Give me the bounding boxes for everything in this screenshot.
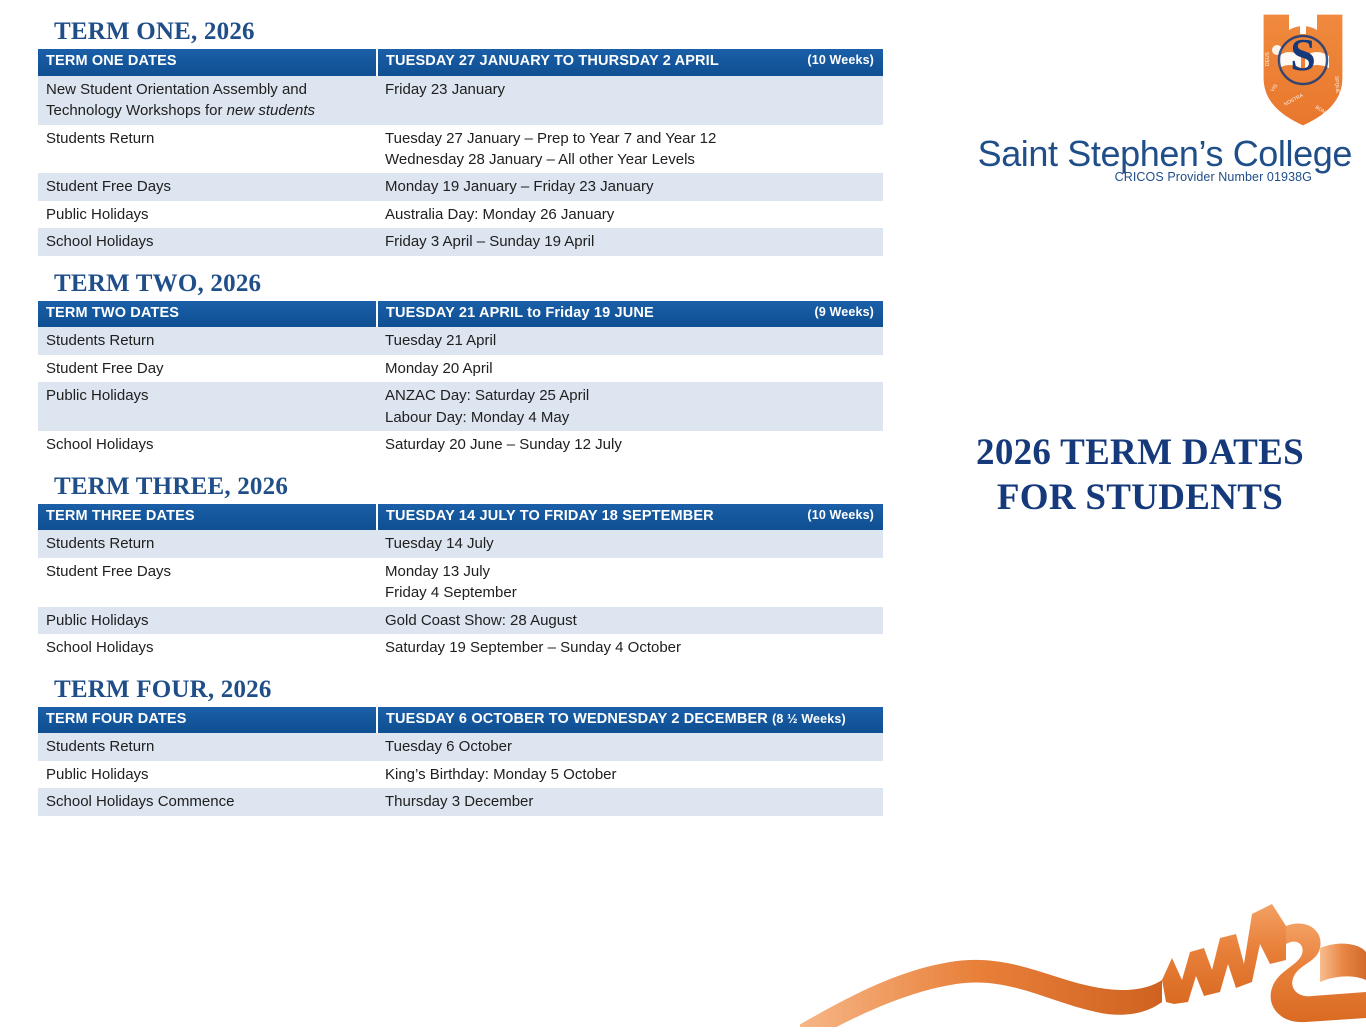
term-block: TERM ONE, 2026TERM ONE DATESTUESDAY 27 J… [38, 18, 890, 256]
table-row: Public HolidaysANZAC Day: Saturday 25 Ap… [38, 382, 883, 431]
row-value-line: Friday 3 April – Sunday 19 April [385, 231, 875, 252]
row-value: Friday 23 January [377, 76, 883, 125]
term-weeks-count: (10 Weeks) [807, 508, 874, 523]
term-heading: TERM TWO, 2026 [54, 270, 890, 298]
row-value-line: Australia Day: Monday 26 January [385, 204, 875, 225]
row-label: School Holidays [38, 431, 377, 458]
table-row: Student Free DaysMonday 19 January – Fri… [38, 173, 883, 200]
term-date-range: TUESDAY 14 JULY TO FRIDAY 18 SEPTEMBER [386, 508, 714, 524]
svg-text:SPQUE: SPQUE [1333, 76, 1340, 95]
table-row: Public HolidaysKing’s Birthday: Monday 5… [38, 761, 883, 788]
table-row: School HolidaysSaturday 19 September – S… [38, 634, 883, 661]
row-value: Monday 20 April [377, 355, 883, 382]
term-date-range: TUESDAY 6 OCTOBER TO WEDNESDAY 2 DECEMBE… [386, 711, 768, 727]
branding-panel: S DEUS VIS NOSTRA BONISSIMA SPQUE Saint … [900, 0, 1366, 1023]
page-title: 2026 TERM DATES FOR STUDENTS [920, 430, 1360, 520]
table-header-right: TUESDAY 14 JULY TO FRIDAY 18 SEPTEMBER(1… [377, 504, 883, 531]
page-title-line-2: FOR STUDENTS [920, 475, 1360, 520]
row-value-line: Thursday 3 December [385, 791, 875, 812]
row-value: Thursday 3 December [377, 788, 883, 815]
row-label: School Holidays [38, 228, 377, 255]
table-row: Students ReturnTuesday 27 January – Prep… [38, 125, 883, 174]
row-value: Tuesday 21 April [377, 327, 883, 354]
term-heading: TERM ONE, 2026 [54, 18, 890, 46]
row-value-line: Monday 20 April [385, 358, 875, 379]
term-table: TERM THREE DATESTUESDAY 14 JULY TO FRIDA… [38, 504, 883, 662]
row-value: Gold Coast Show: 28 August [377, 607, 883, 634]
row-value-line: Gold Coast Show: 28 August [385, 610, 875, 631]
term-table: TERM FOUR DATESTUESDAY 6 OCTOBER TO WEDN… [38, 707, 883, 816]
table-header-row: TERM FOUR DATESTUESDAY 6 OCTOBER TO WEDN… [38, 707, 883, 734]
svg-text:DEUS: DEUS [1265, 51, 1271, 66]
table-header-right: TUESDAY 27 JANUARY TO THURSDAY 2 APRIL(1… [377, 49, 883, 76]
table-row: School Holidays CommenceThursday 3 Decem… [38, 788, 883, 815]
term-block: TERM TWO, 2026TERM TWO DATESTUESDAY 21 A… [38, 270, 890, 459]
row-value-line: Wednesday 28 January – All other Year Le… [385, 149, 875, 170]
row-value-line: Monday 13 July [385, 561, 875, 582]
term-block: TERM THREE, 2026TERM THREE DATESTUESDAY … [38, 473, 890, 662]
row-value: Tuesday 27 January – Prep to Year 7 and … [377, 125, 883, 174]
row-label: Students Return [38, 327, 377, 354]
table-row: Students ReturnTuesday 14 July [38, 530, 883, 557]
table-row: Students ReturnTuesday 21 April [38, 327, 883, 354]
row-label: School Holidays [38, 634, 377, 661]
term-table: TERM TWO DATESTUESDAY 21 APRIL to Friday… [38, 301, 883, 459]
table-row: Student Free DayMonday 20 April [38, 355, 883, 382]
term-date-range: TUESDAY 27 JANUARY TO THURSDAY 2 APRIL [386, 53, 719, 69]
row-value-line: Saturday 20 June – Sunday 12 July [385, 434, 875, 455]
table-header-left: TERM ONE DATES [38, 49, 377, 76]
term-heading: TERM FOUR, 2026 [54, 676, 890, 704]
row-label: Public Holidays [38, 201, 377, 228]
table-row: School HolidaysSaturday 20 June – Sunday… [38, 431, 883, 458]
row-value-line: Monday 19 January – Friday 23 January [385, 176, 875, 197]
row-label: Students Return [38, 530, 377, 557]
row-label: School Holidays Commence [38, 788, 377, 815]
saint-stephens-crest-icon: S DEUS VIS NOSTRA BONISSIMA SPQUE [1255, 6, 1351, 130]
term-block: TERM FOUR, 2026TERM FOUR DATESTUESDAY 6 … [38, 676, 890, 816]
row-value: Tuesday 6 October [377, 733, 883, 760]
row-label: Student Free Days [38, 558, 377, 607]
row-value: Saturday 19 September – Sunday 4 October [377, 634, 883, 661]
table-row: Student Free DaysMonday 13 JulyFriday 4 … [38, 558, 883, 607]
table-header-row: TERM TWO DATESTUESDAY 21 APRIL to Friday… [38, 301, 883, 328]
table-row: Public HolidaysAustralia Day: Monday 26 … [38, 201, 883, 228]
row-value-line: Tuesday 14 July [385, 533, 875, 554]
row-value: Friday 3 April – Sunday 19 April [377, 228, 883, 255]
row-value-line: Friday 23 January [385, 79, 875, 100]
row-value: ANZAC Day: Saturday 25 AprilLabour Day: … [377, 382, 883, 431]
row-value: Monday 13 JulyFriday 4 September [377, 558, 883, 607]
table-header-left: TERM TWO DATES [38, 301, 377, 328]
orange-ribbon-decoration [800, 852, 1366, 1027]
row-label: Students Return [38, 733, 377, 760]
row-value-line: Labour Day: Monday 4 May [385, 407, 875, 428]
row-value-line: Friday 4 September [385, 582, 875, 603]
term-weeks-count: (8 ½ Weeks) [772, 712, 846, 726]
row-value-line: Tuesday 21 April [385, 330, 875, 351]
table-row: School HolidaysFriday 3 April – Sunday 1… [38, 228, 883, 255]
table-row: New Student Orientation Assembly andTech… [38, 76, 883, 125]
table-header-row: TERM THREE DATESTUESDAY 14 JULY TO FRIDA… [38, 504, 883, 531]
college-name: Saint Stephen’s College [900, 133, 1352, 175]
row-value: Tuesday 14 July [377, 530, 883, 557]
row-value-line: Tuesday 6 October [385, 736, 875, 757]
row-value: Monday 19 January – Friday 23 January [377, 173, 883, 200]
row-value-line: ANZAC Day: Saturday 25 April [385, 385, 875, 406]
table-header-left: TERM THREE DATES [38, 504, 377, 531]
term-heading: TERM THREE, 2026 [54, 473, 890, 501]
row-label: Student Free Day [38, 355, 377, 382]
row-label: Public Holidays [38, 382, 377, 431]
cricos-provider-number: CRICOS Provider Number 01938G [900, 170, 1312, 184]
row-label: Public Holidays [38, 607, 377, 634]
page-title-line-1: 2026 TERM DATES [920, 430, 1360, 475]
term-date-range: TUESDAY 21 APRIL to Friday 19 JUNE [386, 305, 654, 321]
row-label: New Student Orientation Assembly andTech… [38, 76, 377, 125]
row-value-line: Tuesday 27 January – Prep to Year 7 and … [385, 128, 875, 149]
table-row: Public HolidaysGold Coast Show: 28 Augus… [38, 607, 883, 634]
row-value: Australia Day: Monday 26 January [377, 201, 883, 228]
row-label: Students Return [38, 125, 377, 174]
row-label: Student Free Days [38, 173, 377, 200]
table-header-right: TUESDAY 21 APRIL to Friday 19 JUNE(9 Wee… [377, 301, 883, 328]
row-label: Public Holidays [38, 761, 377, 788]
table-header-left: TERM FOUR DATES [38, 707, 377, 734]
term-table: TERM ONE DATESTUESDAY 27 JANUARY TO THUR… [38, 49, 883, 256]
table-header-right: TUESDAY 6 OCTOBER TO WEDNESDAY 2 DECEMBE… [377, 707, 883, 734]
table-header-row: TERM ONE DATESTUESDAY 27 JANUARY TO THUR… [38, 49, 883, 76]
row-value-line: Saturday 19 September – Sunday 4 October [385, 637, 875, 658]
row-value: King’s Birthday: Monday 5 October [377, 761, 883, 788]
row-value: Saturday 20 June – Sunday 12 July [377, 431, 883, 458]
term-weeks-count: (10 Weeks) [807, 53, 874, 68]
term-dates-tables: TERM ONE, 2026TERM ONE DATESTUESDAY 27 J… [38, 18, 890, 822]
term-weeks-count: (9 Weeks) [815, 305, 874, 320]
table-row: Students ReturnTuesday 6 October [38, 733, 883, 760]
row-value-line: King’s Birthday: Monday 5 October [385, 764, 875, 785]
